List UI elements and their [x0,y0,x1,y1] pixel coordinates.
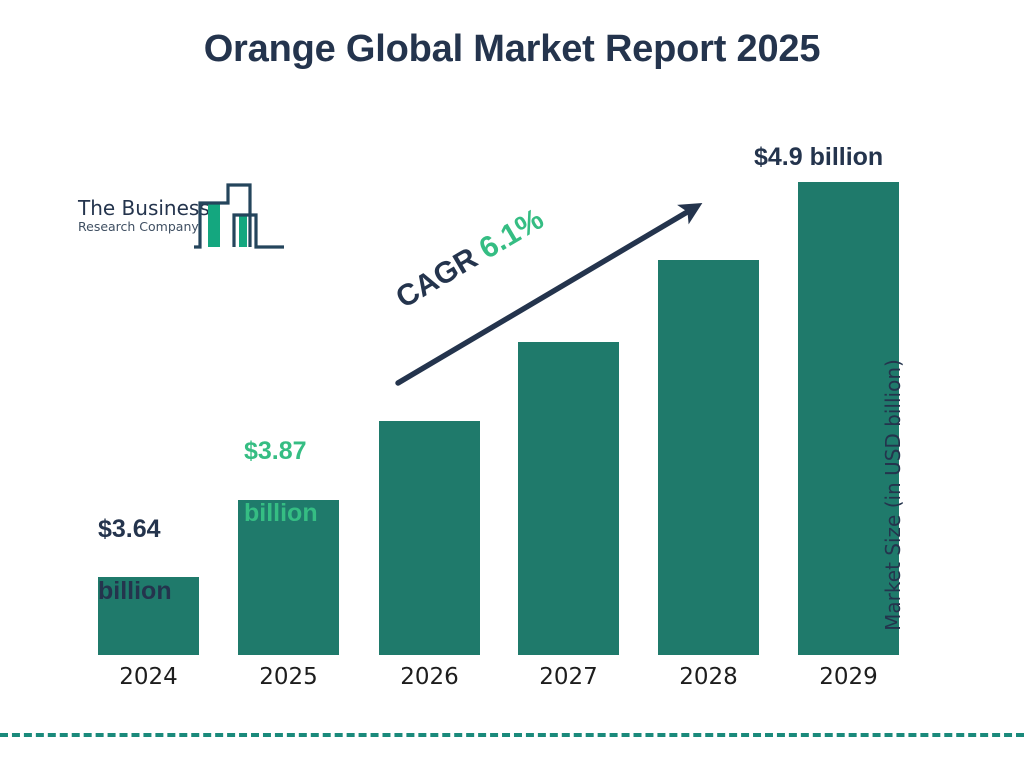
chart-plot-area [0,0,1024,768]
value-label-2024-unit: billion [98,576,172,607]
value-label-2024: $3.64 billion [98,483,172,638]
bar-2027 [518,342,619,655]
bar-2028 [658,260,759,655]
chart-page: Orange Global Market Report 2025 The Bus… [0,0,1024,768]
x-tick-2029: 2029 [798,664,899,690]
value-label-2024-amount: $3.64 [98,514,172,545]
value-label-2025-amount: $3.87 [244,436,318,467]
value-label-2029: $4.9 billion [754,142,883,173]
x-tick-2027: 2027 [518,664,619,690]
value-label-2025: $3.87 billion [244,405,318,560]
y-axis-title: Market Size (in USD billion) [881,335,905,655]
value-label-2025-unit: billion [244,498,318,529]
bar-2026 [379,421,480,655]
x-tick-2028: 2028 [658,664,759,690]
x-tick-2026: 2026 [379,664,480,690]
x-tick-2025: 2025 [238,664,339,690]
bottom-divider [0,733,1024,737]
x-tick-2024: 2024 [98,664,199,690]
